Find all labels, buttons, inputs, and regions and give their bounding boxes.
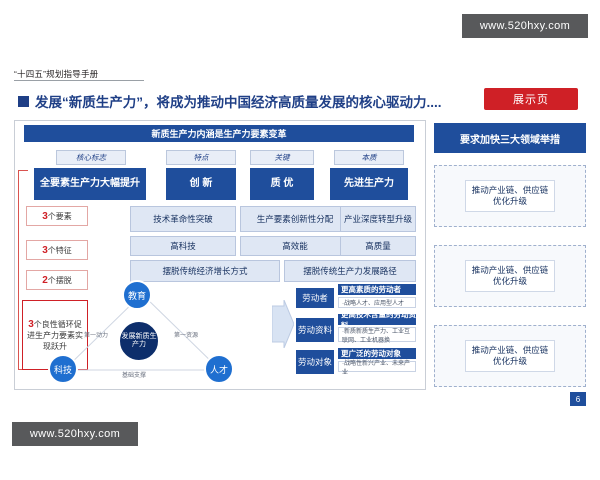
status-badge: 展示页 <box>484 88 578 110</box>
element-head-0: 更高素质的劳动者 <box>338 284 416 295</box>
element-sub-0: ·战略人才、应用型人才 <box>338 297 416 308</box>
rail-item-0-text: 个要素 <box>48 212 72 221</box>
row1-left-box: 全要素生产力大幅提升 <box>34 168 146 200</box>
row3-cell-2: 高质量 <box>340 236 416 256</box>
column-chip-0: 核心标志 <box>56 150 126 165</box>
element-label-1: 劳动资料 <box>296 318 334 342</box>
triangle-diagram: 发展新质生产力 教育 科技 人才 第一动力 第一资源 基础支撑 <box>22 282 270 382</box>
row1-cell-1: 质 优 <box>250 168 314 200</box>
right-card-2: 推动产业链、供应链优化升级 <box>434 325 586 387</box>
triangle-node-0: 教育 <box>122 280 152 310</box>
right-card-1-text: 推动产业链、供应链优化升级 <box>465 260 555 293</box>
column-chip-1: 特点 <box>166 150 236 165</box>
element-head-1: 更高技术含量的劳动资料 <box>338 314 416 325</box>
document-label: “十四五”规划指导手册 <box>14 68 98 80</box>
row3-cell-1: 高效能 <box>240 236 350 256</box>
row1-cell-2: 先进生产力 <box>330 168 408 200</box>
column-chip-2: 关键 <box>250 150 314 165</box>
watermark-bottom: www.520hxy.com <box>12 422 138 446</box>
triangle-center-node: 发展新质生产力 <box>118 320 160 362</box>
rail-item-1: 3个特征 <box>26 240 88 260</box>
watermark-top: www.520hxy.com <box>462 14 588 38</box>
row4-cell-1: 摆脱传统生产力发展路径 <box>284 260 416 282</box>
rail-item-0: 3个要素 <box>26 206 88 226</box>
header-divider <box>14 80 144 81</box>
row3-cell-0: 高科技 <box>130 236 236 256</box>
right-card-1: 推动产业链、供应链优化升级 <box>434 245 586 307</box>
triangle-node-2: 人才 <box>204 354 234 384</box>
triangle-edge-label-0: 第一动力 <box>84 330 108 339</box>
row2-cell-0: 技术革命性突破 <box>130 206 236 232</box>
page-title: 发展“新质生产力”，将成为推动中国经济高质量发展的核心驱动力.... <box>18 88 468 114</box>
triangle-edge-label-2: 基础支撑 <box>122 370 146 379</box>
triangle-node-1: 科技 <box>48 354 78 384</box>
element-label-2: 劳动对象 <box>296 350 334 374</box>
panel-title-bar: 新质生产力内涵是生产力要素变革 <box>24 125 414 142</box>
column-chip-3: 本质 <box>334 150 404 165</box>
page-title-text: 发展“新质生产力”，将成为推动中国经济高质量发展的核心驱动力.... <box>35 91 442 111</box>
right-card-0: 推动产业链、供应链优化升级 <box>434 165 586 227</box>
row2-cell-2: 产业深度转型升级 <box>340 206 416 232</box>
row2-cell-1: 生产要素创新性分配 <box>240 206 350 232</box>
right-card-2-text: 推动产业链、供应链优化升级 <box>465 340 555 373</box>
right-card-0-text: 推动产业链、供应链优化升级 <box>465 180 555 213</box>
element-sub-2: ·战略性新兴产业、未来产业 <box>338 361 416 372</box>
row1-cell-0: 创 新 <box>166 168 236 200</box>
rail-item-1-text: 个特征 <box>48 246 72 255</box>
right-column-title: 要求加快三大领域举措 <box>434 123 586 153</box>
triangle-edge-label-1: 第一资源 <box>174 330 198 339</box>
element-label-0: 劳动者 <box>296 288 334 308</box>
flow-arrow-icon <box>272 300 294 348</box>
page-number-badge: 6 <box>570 392 586 406</box>
row4-cell-0: 摆脱传统经济增长方式 <box>130 260 280 282</box>
element-sub-1: ·新质新质生产力、工业互联网、工业机器换 <box>338 327 416 342</box>
title-marker-icon <box>18 96 29 107</box>
